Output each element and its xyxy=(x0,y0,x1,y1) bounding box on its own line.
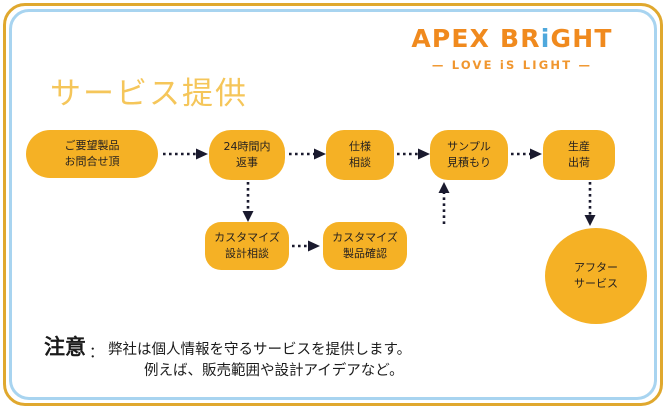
flow-node-request-line1: ご要望製品 xyxy=(65,138,120,154)
logo-wordmark: APEX BRiGHT xyxy=(402,26,622,51)
connector-sample-to-produce xyxy=(511,147,547,161)
connector-spec-to-sample xyxy=(397,147,433,161)
note-line-1: 弊社は個人情報を守るサービスを提供します。 xyxy=(108,340,411,361)
flow-node-custom-confirm: カスタマイズ 製品確認 xyxy=(323,222,407,270)
logo-wordmark-accent: i xyxy=(541,24,551,53)
flow-node-after-service: アフター サービス xyxy=(545,228,647,324)
flow-node-spec-line2: 相談 xyxy=(349,155,371,171)
flow-node-reply: 24時間内 返事 xyxy=(209,130,285,180)
connector-custom-confirm-to-sample xyxy=(437,180,451,226)
slide-canvas: APEX BRiGHT — LOVE iS LIGHT — サービス提供 ご要望… xyxy=(0,0,666,409)
note-body: 弊社は個人情報を守るサービスを提供します。 例えば、販売範囲や設計アイデアなど。 xyxy=(108,336,411,382)
flow-node-spec: 仕様 相談 xyxy=(326,130,394,180)
connector-produce-to-after-service xyxy=(583,182,597,228)
flow-node-produce: 生産 出荷 xyxy=(543,130,615,180)
connector-reply-to-custom-design xyxy=(241,182,255,224)
flow-node-sample-line2: 見積もり xyxy=(447,155,491,171)
flow-node-reply-line1: 24時間内 xyxy=(224,139,271,155)
flow-node-sample-line1: サンプル xyxy=(447,139,491,155)
flow-node-custom-design-line2: 設計相談 xyxy=(225,246,269,262)
note-colon: ： xyxy=(86,336,108,362)
flow-node-after-service-line2: サービス xyxy=(574,276,618,292)
flow-node-spec-line1: 仕様 xyxy=(349,139,371,155)
note-block: 注意 ： 弊社は個人情報を守るサービスを提供します。 例えば、販売範囲や設計アイ… xyxy=(44,336,514,382)
note-label: 注意 xyxy=(44,336,86,359)
logo-tagline: — LOVE iS LIGHT — xyxy=(402,58,622,72)
connector-reply-to-spec xyxy=(289,147,329,161)
brand-logo: APEX BRiGHT — LOVE iS LIGHT — xyxy=(402,26,622,72)
page-title: サービス提供 xyxy=(50,68,248,113)
flow-node-request: ご要望製品 お問合せ頂 xyxy=(26,130,158,178)
connector-custom-design-to-custom-confirm xyxy=(292,239,324,253)
connector-request-to-reply xyxy=(163,147,211,161)
flow-node-reply-line2: 返事 xyxy=(236,155,258,171)
flow-node-produce-line1: 生産 xyxy=(568,139,590,155)
flow-node-sample: サンプル 見積もり xyxy=(430,130,508,180)
flow-node-custom-design: カスタマイズ 設計相談 xyxy=(205,222,289,270)
flow-node-request-line2: お問合せ頂 xyxy=(65,154,120,170)
flow-node-custom-confirm-line2: 製品確認 xyxy=(343,246,387,262)
logo-wordmark-after: GHT xyxy=(551,24,613,53)
flow-node-after-service-line1: アフター xyxy=(574,260,618,276)
note-line-2: 例えば、販売範囲や設計アイデアなど。 xyxy=(108,361,411,382)
flow-node-custom-design-line1: カスタマイズ xyxy=(214,230,280,246)
flow-node-custom-confirm-line1: カスタマイズ xyxy=(332,230,398,246)
logo-wordmark-before: APEX BR xyxy=(411,24,540,53)
flow-node-produce-line2: 出荷 xyxy=(568,155,590,171)
